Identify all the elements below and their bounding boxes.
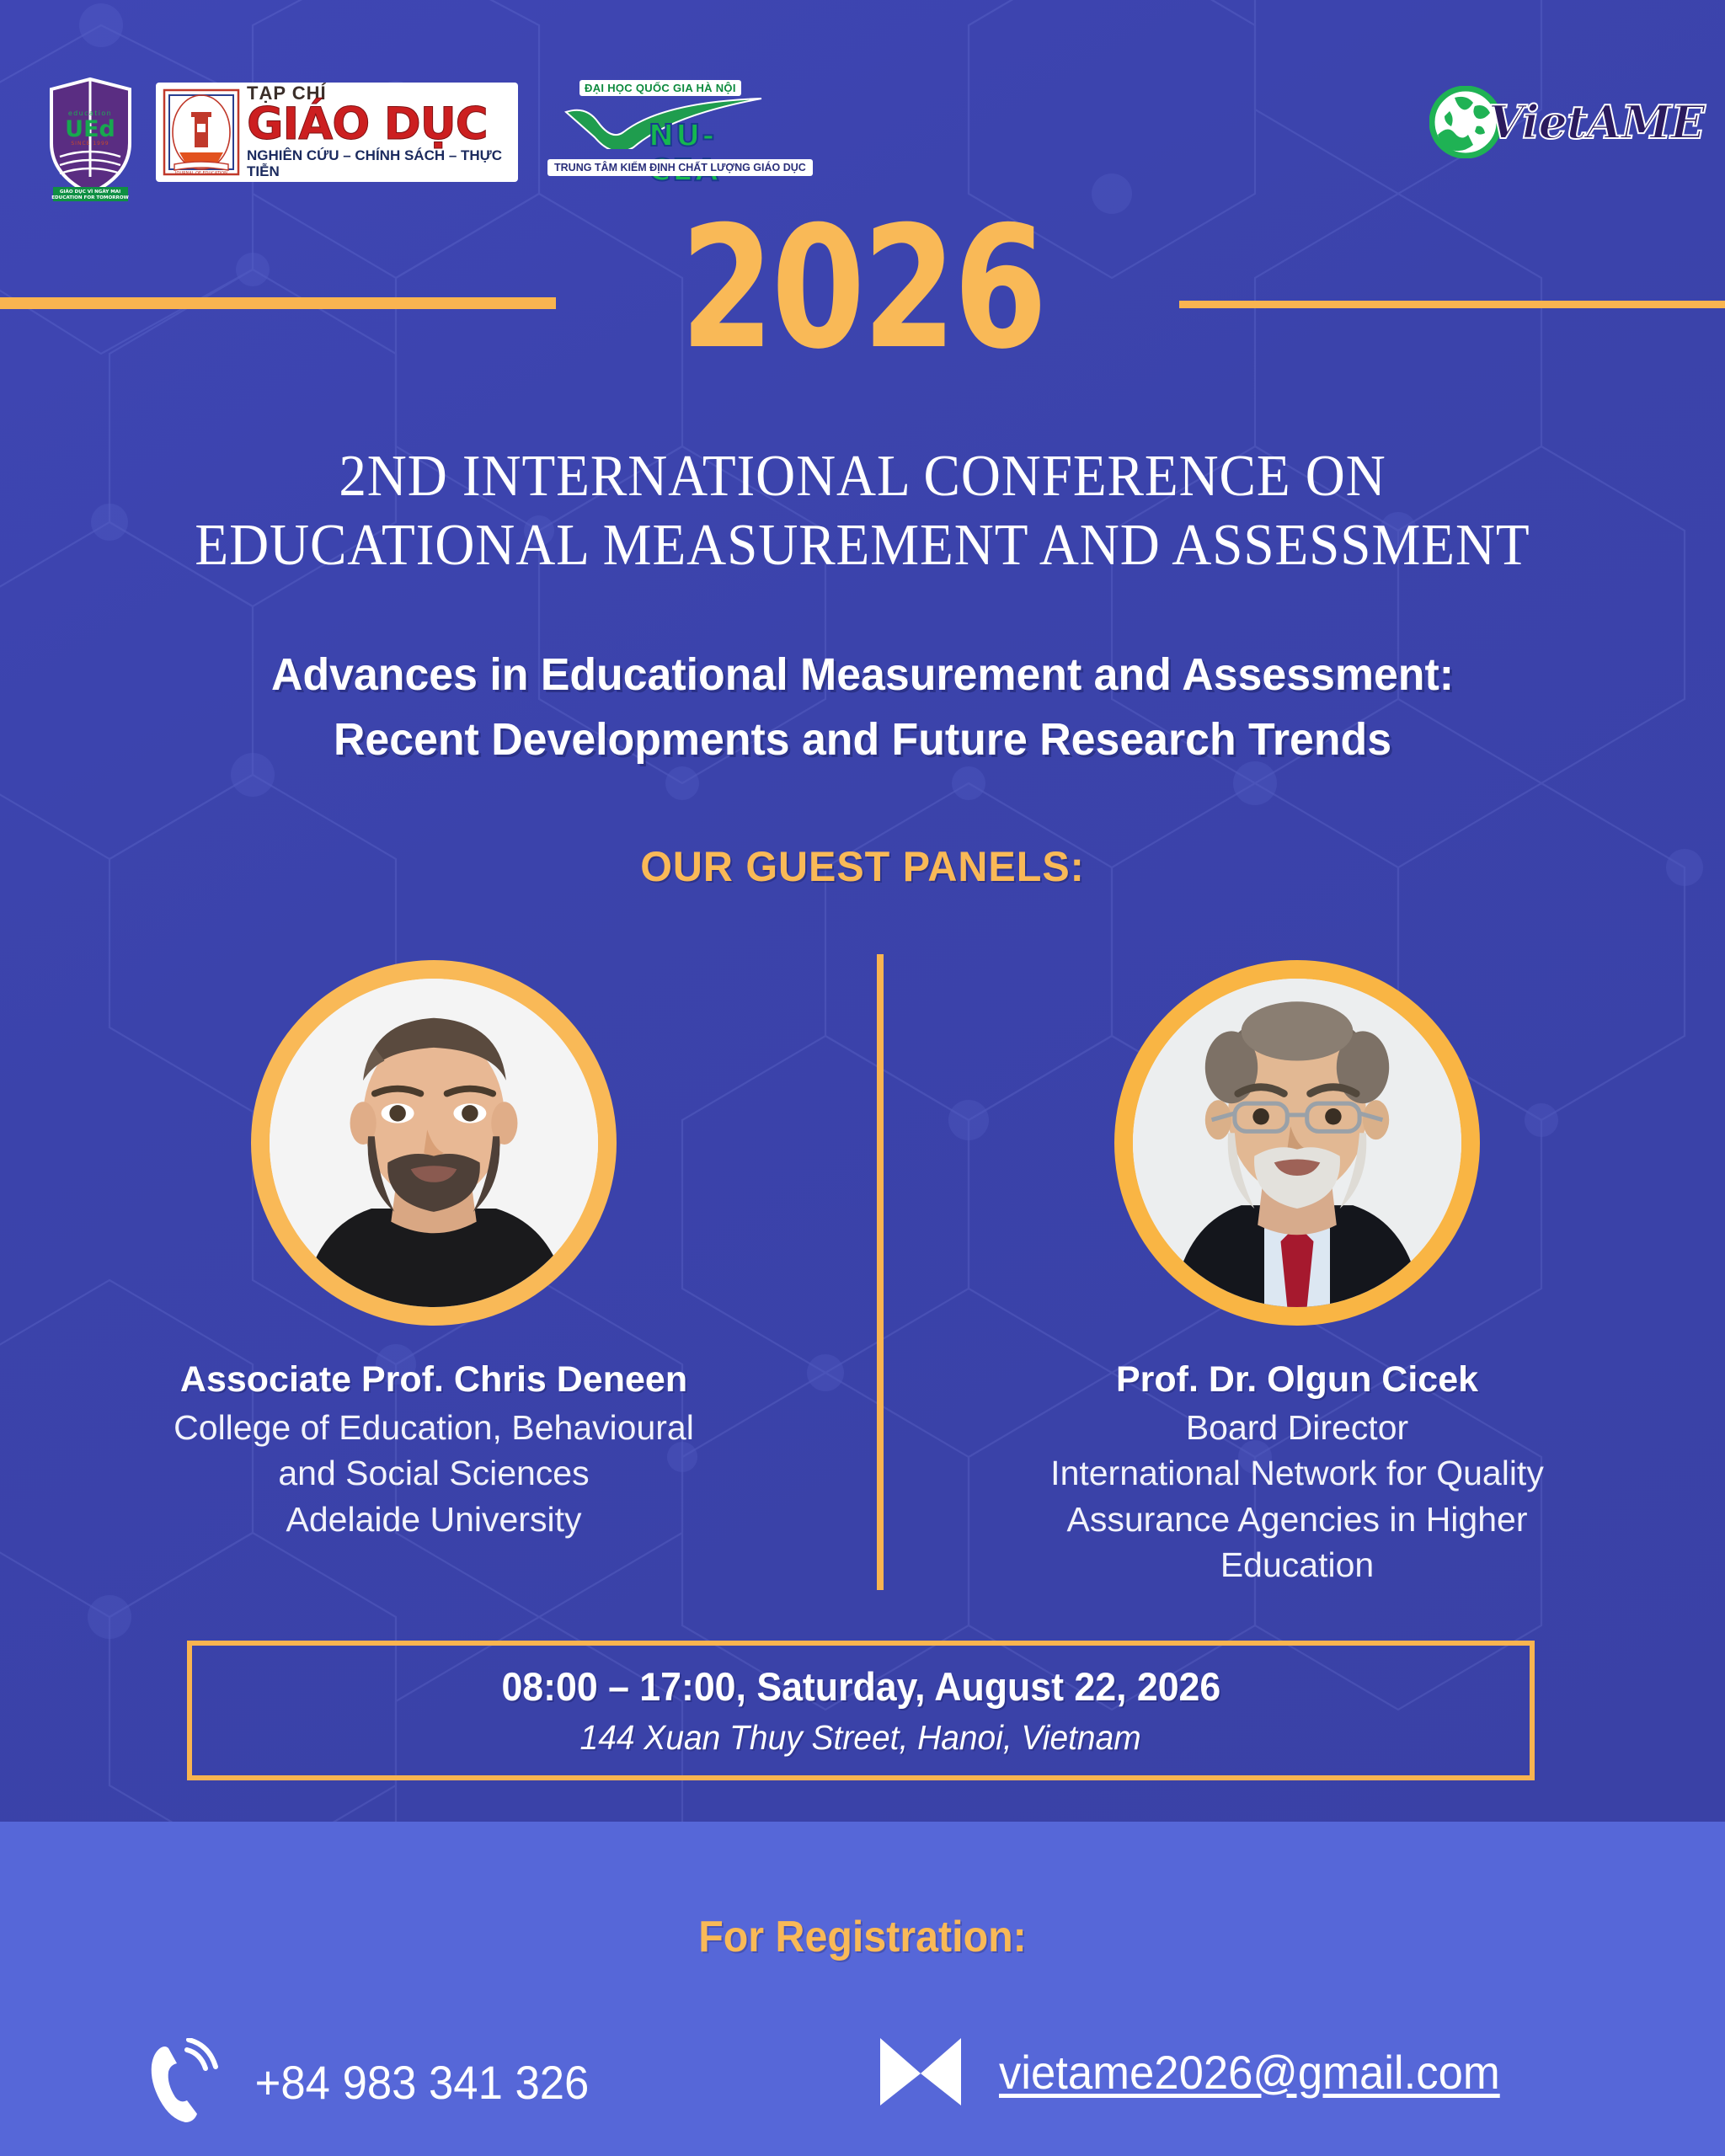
speaker-2-affiliation-line4: Education xyxy=(893,1542,1701,1588)
conference-poster: education UEd SINCE 1999 GIÁO DỤC VÌ NGÀ… xyxy=(0,0,1725,2156)
speaker-2-affiliation-line3: Assurance Agencies in Higher xyxy=(893,1497,1701,1543)
avatar xyxy=(1114,960,1480,1326)
vietame-wordmark: VietAME xyxy=(1488,95,1705,149)
svg-text:UEd: UEd xyxy=(65,116,115,142)
contacts-row: +84 983 341 326 vietame2026@gmail.com xyxy=(0,2038,1725,2139)
nu-cea-logo: ĐẠI HỌC QUỐC GIA HÀ NỘI NU-CEA TRUNG TÂM… xyxy=(547,80,775,181)
event-venue: 144 Xuan Thuy Street, Hanoi, Vietnam xyxy=(580,1718,1141,1758)
speaker-1-name: Associate Prof. Chris Deneen xyxy=(29,1358,838,1403)
nucea-top-label: ĐẠI HỌC QUỐC GIA HÀ NỘI xyxy=(579,80,741,96)
portrait-olgun-cicek-icon xyxy=(1133,979,1461,1307)
sponsor-logo-bar: education UEd SINCE 1999 GIÁO DỤC VÌ NGÀ… xyxy=(0,0,1725,202)
conference-theme-line2: Recent Developments and Future Research … xyxy=(35,707,1690,772)
giaoduc-title: GIÁO DỤC xyxy=(247,104,518,146)
conference-theme-line1: Advances in Educational Measurement and … xyxy=(35,643,1690,707)
giaoduc-tagline: NGHIÊN CỨU – CHÍNH SÁCH – THỰC TIỄN xyxy=(247,148,518,179)
registration-heading: For Registration: xyxy=(61,1912,1665,1962)
journal-seal-icon: JOURNAL OF EDUCATION xyxy=(161,87,242,178)
contact-email[interactable]: vietame2026@gmail.com xyxy=(880,2038,1516,2105)
svg-text:GIÁO DỤC VÌ NGÀY MAI: GIÁO DỤC VÌ NGÀY MAI xyxy=(60,188,120,195)
phone-number: +84 983 341 326 xyxy=(255,2055,590,2110)
email-address[interactable]: vietame2026@gmail.com xyxy=(999,2045,1500,2100)
phone-icon xyxy=(142,2038,222,2126)
speaker-1-affiliation: College of Education, Behavioural and So… xyxy=(29,1405,838,1543)
year-banner: 2026 xyxy=(0,217,1725,377)
svg-text:JOURNAL OF EDUCATION: JOURNAL OF EDUCATION xyxy=(174,171,227,176)
tap-chi-giao-duc-logo: JOURNAL OF EDUCATION TẠP CHÍ GIÁO DỤC NG… xyxy=(156,83,518,182)
svg-text:EDUCATION FOR TOMORROW: EDUCATION FOR TOMORROW xyxy=(51,195,129,200)
avatar xyxy=(251,960,617,1326)
speaker-card-1: Associate Prof. Chris Deneen College of … xyxy=(29,943,838,1542)
conference-title: 2ND INTERNATIONAL CONFERENCE ON EDUCATIO… xyxy=(61,442,1665,580)
speaker-2-affiliation: Board Director International Network for… xyxy=(893,1405,1701,1588)
vietame-logo: VietAME xyxy=(1429,77,1674,166)
event-datetime: 08:00 – 17:00, Saturday, August 22, 2026 xyxy=(501,1663,1220,1710)
event-details-box: 08:00 – 17:00, Saturday, August 22, 2026… xyxy=(187,1641,1535,1780)
speaker-2-name: Prof. Dr. Olgun Cicek xyxy=(893,1358,1701,1403)
speaker-1-affiliation-line1: College of Education, Behavioural xyxy=(29,1405,838,1451)
guest-panels-heading: OUR GUEST PANELS: xyxy=(26,842,1700,891)
speakers-section: Associate Prof. Chris Deneen College of … xyxy=(0,943,1725,1600)
conference-title-line1: 2ND INTERNATIONAL CONFERENCE ON xyxy=(61,442,1665,511)
conference-theme: Advances in Educational Measurement and … xyxy=(35,643,1690,771)
conference-title-line2: EDUCATIONAL MEASUREMENT AND ASSESSMENT xyxy=(61,511,1665,580)
ued-shield-logo: education UEd SINCE 1999 GIÁO DỤC VÌ NGÀ… xyxy=(46,76,135,185)
portrait-chris-deneen-icon xyxy=(270,979,598,1307)
speaker-1-affiliation-line3: Adelaide University xyxy=(29,1497,838,1543)
nucea-bottom-label: TRUNG TÂM KIỂM ĐỊNH CHẤT LƯỢNG GIÁO DỤC xyxy=(547,159,813,176)
speaker-1-affiliation-line2: and Social Sciences xyxy=(29,1450,838,1497)
speakers-vertical-divider xyxy=(877,954,884,1590)
year-text: 2026 xyxy=(173,192,1552,386)
envelope-icon xyxy=(880,2038,961,2105)
contact-phone[interactable]: +84 983 341 326 xyxy=(142,2038,600,2126)
svg-text:SINCE 1999: SINCE 1999 xyxy=(71,141,109,147)
speaker-2-affiliation-line2: International Network for Quality xyxy=(893,1450,1701,1497)
nucea-acronym: NU-CEA xyxy=(649,119,775,188)
speaker-2-affiliation-line1: Board Director xyxy=(893,1405,1701,1451)
speaker-card-2: Prof. Dr. Olgun Cicek Board Director Int… xyxy=(893,943,1701,1588)
